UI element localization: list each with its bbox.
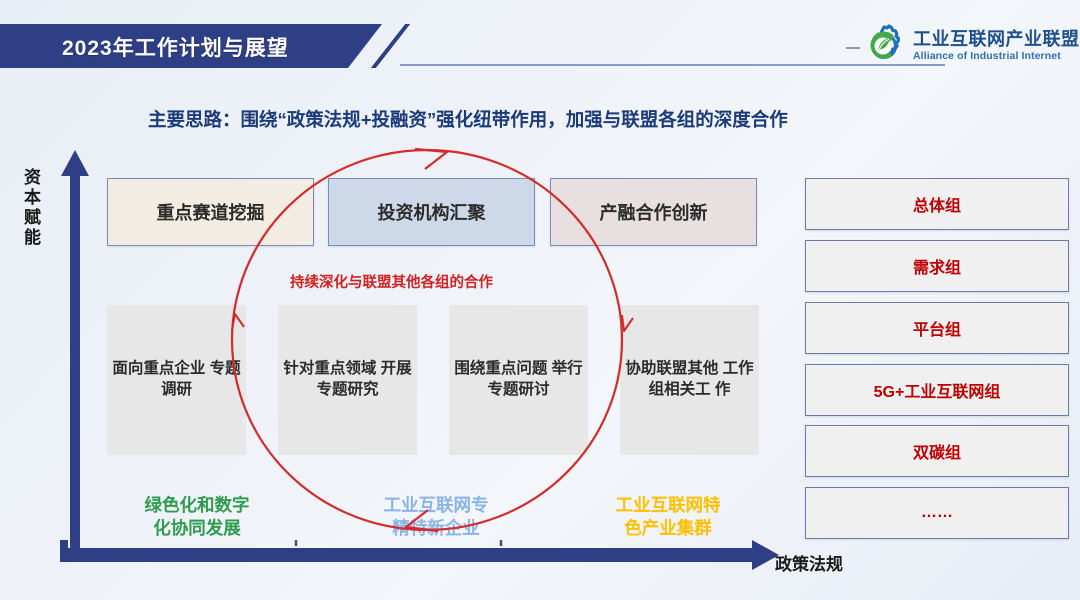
right-box-platform-group[interactable]: 平台组 xyxy=(805,302,1069,354)
logo-text: 工业互联网产业联盟 Alliance of Industrial Interne… xyxy=(913,30,1080,62)
mid-box-domain-study[interactable]: 针对重点领域 开展专题研究 xyxy=(278,305,417,455)
right-box-demand-group[interactable]: 需求组 xyxy=(805,240,1069,292)
red-annotation-text: 持续深化与联盟其他各组的合作 xyxy=(290,271,493,292)
y-axis-label: 资本赋能 xyxy=(18,168,43,248)
logo-title-cn: 工业互联网产业联盟 xyxy=(913,30,1080,49)
mid-box-assist-workgroups[interactable]: 协助联盟其他 工作组相关工 作 xyxy=(620,305,759,455)
right-box-5g-group[interactable]: 5G+工业互联网组 xyxy=(805,364,1069,416)
x-axis-label: 政策法规 xyxy=(775,550,843,575)
logo-title-en: Alliance of Industrial Internet xyxy=(913,51,1080,62)
y-axis-arrow xyxy=(60,150,90,555)
header-divider-dash xyxy=(846,47,860,49)
x-axis-arrow xyxy=(60,540,780,585)
gear-leaf-logo-icon xyxy=(862,24,906,68)
mid-box-enterprise-research[interactable]: 面向重点企业 专题调研 xyxy=(107,305,246,455)
bottom-label-industry-cluster: 工业互联网特 色产业集群 xyxy=(583,494,753,540)
top-box-industry-finance[interactable]: 产融合作创新 xyxy=(550,178,757,246)
page-title: 2023年工作计划与展望 xyxy=(62,32,289,62)
bottom-label-green-digital: 绿色化和数字 化协同发展 xyxy=(112,494,282,540)
slide-canvas: 2023年工作计划与展望 工业互联网产业联盟 Alliance of Indus… xyxy=(0,0,1080,600)
top-box-investor-gathering[interactable]: 投资机构汇聚 xyxy=(328,178,535,246)
right-box-dual-carbon-group[interactable]: 双碳组 xyxy=(805,425,1069,477)
subtitle-text: 主要思路：围绕“政策法规+投融资”强化纽带作用，加强与联盟各组的深度合作 xyxy=(148,106,788,132)
mid-box-issue-seminar[interactable]: 围绕重点问题 举行专题研讨 xyxy=(449,305,588,455)
bottom-label-specialized-enterprise: 工业互联网专 精特新企业 xyxy=(351,494,521,540)
right-box-overall-group[interactable]: 总体组 xyxy=(805,178,1069,230)
top-box-key-track[interactable]: 重点赛道挖掘 xyxy=(107,178,314,246)
logo: 工业互联网产业联盟 Alliance of Industrial Interne… xyxy=(862,22,1074,70)
right-box-more[interactable]: …… xyxy=(805,487,1069,539)
